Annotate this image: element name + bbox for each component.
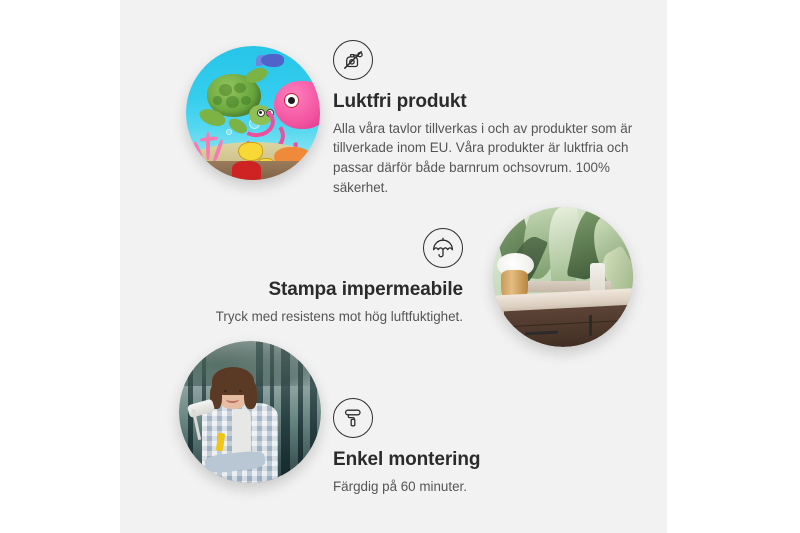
feature-block-easy-mounting: Enkel montering Färgdig på 60 minuter. <box>333 398 613 496</box>
icon-wrap-waterproof <box>213 228 463 268</box>
red-shipwreck <box>232 161 261 180</box>
feature-block-odour-free: Luktfri produkt Alla våra tavlor tillver… <box>333 40 633 198</box>
icon-wrap-easy-mounting <box>333 398 613 438</box>
icon-wrap-odour-free <box>333 40 633 80</box>
paint-roller-icon <box>333 398 373 438</box>
wood-vanity-cabinet <box>504 304 633 347</box>
feature-description: Färgdig på 60 minuter. <box>333 477 613 497</box>
photo-circle-bathroom <box>493 207 633 347</box>
photo-circle-painter <box>179 341 321 483</box>
photo-circle-ocean <box>186 46 320 180</box>
no-fragrance-icon <box>333 40 373 80</box>
ocean-scene <box>186 46 320 180</box>
feature-title: Luktfri produkt <box>333 90 633 114</box>
feature-block-waterproof: Stampa impermeabile Tryck med resistens … <box>213 228 463 326</box>
painter-scene <box>179 341 321 483</box>
umbrella-icon <box>423 228 463 268</box>
infographic-stage: Luktfri produkt Alla våra tavlor tillver… <box>0 0 800 533</box>
feature-description: Tryck med resistens mot hög luftfuktighe… <box>213 307 463 327</box>
feature-title: Stampa impermeabile <box>213 278 463 302</box>
bathroom-scene <box>493 207 633 347</box>
content-panel: Luktfri produkt Alla våra tavlor tillver… <box>120 0 667 533</box>
feature-description: Alla våra tavlor tillverkas i och av pro… <box>333 119 633 198</box>
blue-fish <box>261 54 284 67</box>
octopus-eye <box>284 93 299 108</box>
feature-title: Enkel montering <box>333 448 613 472</box>
